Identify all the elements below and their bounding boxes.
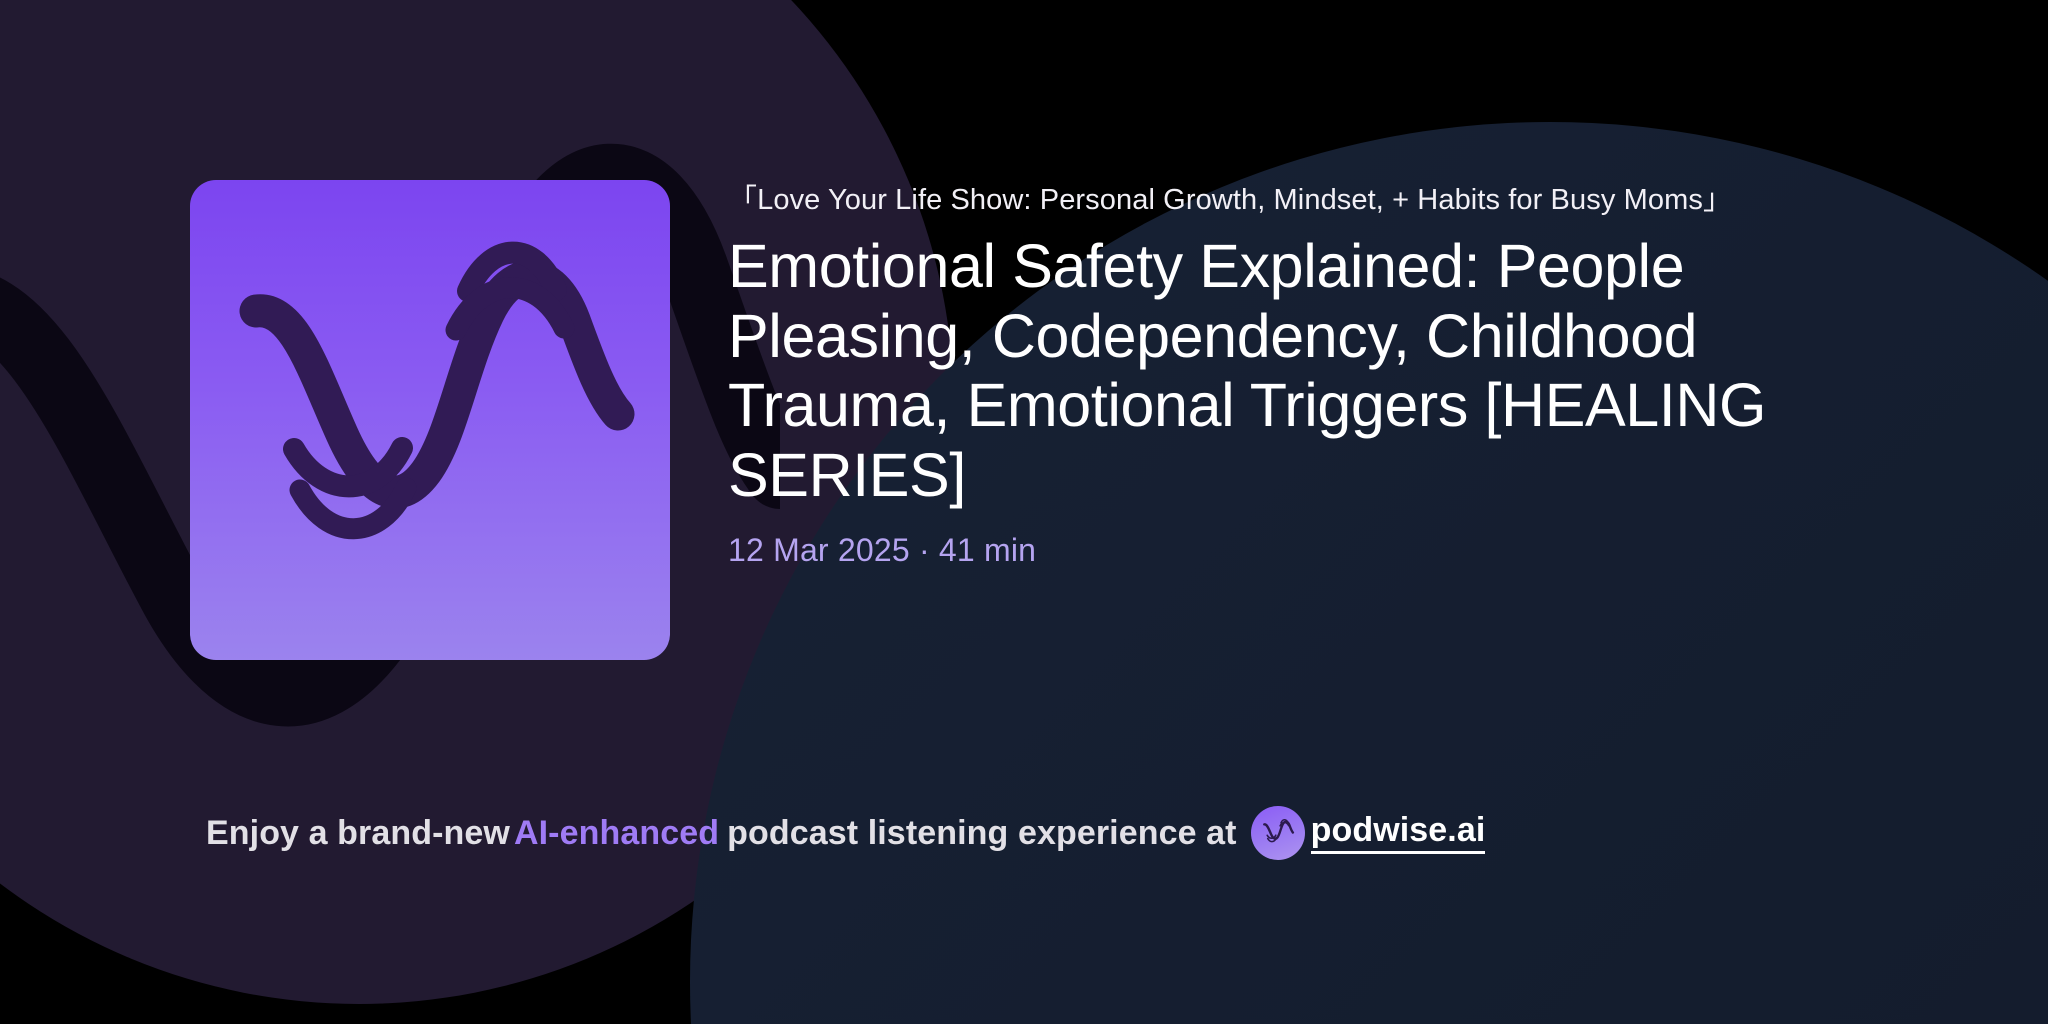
podcast-name-close-bracket: 」 bbox=[1703, 184, 1732, 216]
tagline-highlight: AI-enhanced bbox=[510, 814, 723, 853]
podcast-name[interactable]: 「Love Your Life Show: Personal Growth, M… bbox=[728, 182, 1928, 218]
tagline-text-after: podcast listening experience at bbox=[723, 814, 1236, 853]
podcast-episode-share-card: 「Love Your Life Show: Personal Growth, M… bbox=[0, 0, 2048, 1024]
podwise-badge-icon bbox=[1251, 806, 1305, 860]
podcast-artwork[interactable] bbox=[190, 180, 670, 660]
episode-title: Emotional Safety Explained: People Pleas… bbox=[728, 232, 1908, 510]
episode-meta: 12 Mar 2025 · 41 min bbox=[728, 532, 1928, 569]
podcast-name-text: Love Your Life Show: Personal Growth, Mi… bbox=[757, 184, 1703, 216]
tagline-text-before: Enjoy a brand-new bbox=[206, 814, 510, 853]
podwise-link[interactable]: podwise.ai bbox=[1311, 812, 1486, 853]
episode-info-column: 「Love Your Life Show: Personal Growth, M… bbox=[728, 182, 1928, 569]
promo-tagline: Enjoy a brand-new AI-enhanced podcast li… bbox=[206, 806, 1485, 860]
podcast-name-open-bracket: 「 bbox=[728, 184, 757, 216]
podwise-wave-logo-icon bbox=[190, 180, 670, 660]
